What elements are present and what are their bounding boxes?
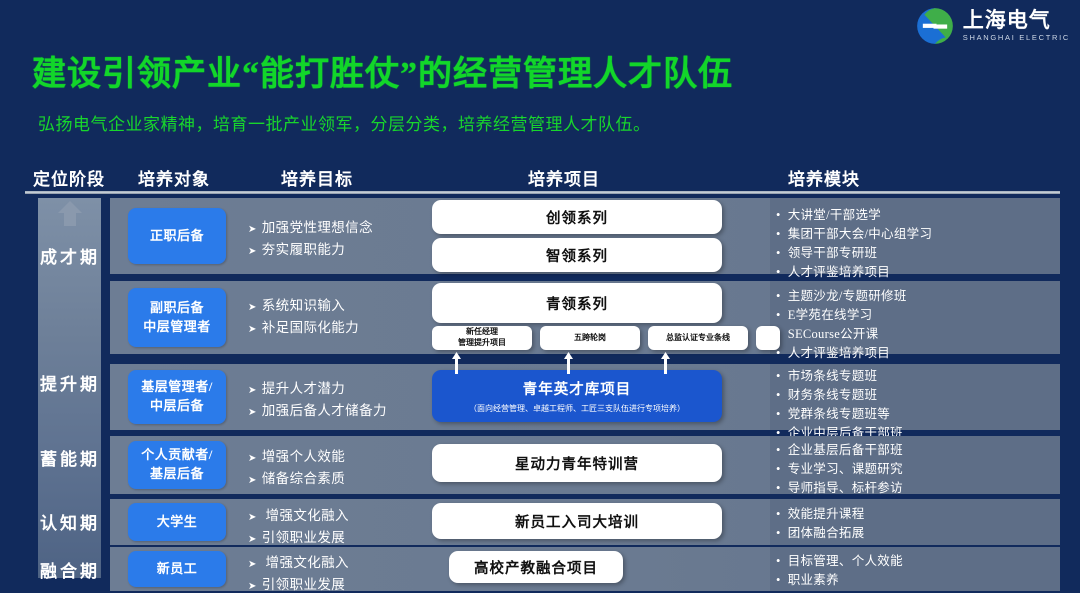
program-card-label: 总监认证专业条线 [666,333,730,344]
module-item: 财务条线专题班 [776,386,1046,405]
pipeline-row: 副职后备 中层管理者系统知识输入补足国际化能力青领系列新任经理 管理提升项目五跨… [110,281,1060,354]
program-card-label: 青年英才库项目 [523,378,632,399]
module-item: 领导干部专研班 [776,244,1046,263]
connector-up-arrow-icon [452,352,461,374]
audience-tag[interactable]: 个人贡献者/ 基层后备 [128,441,226,489]
program-card-label: 智领系列 [546,245,608,266]
stage-label-4: 认知期 [24,509,116,534]
pipeline-row: 正职后备加强党性理想信念夯实履职能力创领系列智领系列大讲堂/干部选学集团干部大会… [110,198,1060,274]
module-item: 党群条线专题班等 [776,405,1046,424]
module-item: 专业学习、课题研究 [776,460,1046,479]
program-card-label: 青领系列 [546,293,608,314]
up-arrow-icon [57,200,83,226]
goal-item: 加强后备人才储备力 [248,400,387,422]
column-header-4: 培养项目 [528,165,600,190]
audience-tag[interactable]: 大学生 [128,503,226,541]
module-list: 企业基层后备干部班专业学习、课题研究导师指导、标杆参访 [776,441,1046,498]
module-item: 市场条线专题班 [776,367,1046,386]
program-card-label: 新任经理 管理提升项目 [458,327,506,349]
audience-tag[interactable]: 基层管理者/ 中层后备 [128,370,226,424]
connector-up-arrow-icon [564,352,573,374]
module-item: 人才评鉴培养项目 [776,263,1046,282]
module-item: 集团干部大会/中心组学习 [776,225,1046,244]
module-list: 市场条线专题班财务条线专题班党群条线专题班等企业中层后备干部班 [776,367,1046,443]
module-list: 效能提升课程团体融合拓展 [776,505,1046,543]
program-card-label: 新员工入司大培训 [515,511,639,532]
program-card-label: 高校产教融合项目 [474,557,598,578]
program-card[interactable]: 星动力青年特训营 [432,444,722,482]
program-card[interactable]: 创领系列 [432,200,722,234]
audience-tag[interactable]: 新员工 [128,551,226,587]
program-card[interactable]: 新员工入司大培训 [432,503,722,539]
stage-label-1: 成才期 [24,243,116,268]
goal-list: 提升人才潜力加强后备人才储备力 [248,378,387,422]
program-card[interactable]: 智领系列 [432,238,722,272]
column-header-1: 定位阶段 [33,165,105,190]
goal-list: 增强个人效能储备综合素质 [248,446,345,490]
column-header-3: 培养目标 [281,165,353,190]
connector-up-arrow-icon [661,352,670,374]
goal-list: 增强文化融入引领职业发展 [248,552,349,593]
program-card[interactable]: 新任经理 管理提升项目 [432,326,532,350]
program-card[interactable]: 青年英才库项目（面向经营管理、卓越工程师、工匠三支队伍进行专项培养） [432,370,722,422]
program-card-label: 星动力青年特训营 [515,453,639,474]
goal-list: 增强文化融入引领职业发展 [248,505,349,549]
goal-item: 夯实履职能力 [248,239,373,261]
module-item: 人才评鉴培养项目 [776,344,1046,363]
goal-item: 增强文化融入 [248,552,349,574]
page-title: 建设引领产业“能打胜仗”的经营管理人才队伍 [32,46,733,95]
goal-item: 系统知识输入 [248,295,359,317]
module-item: SECourse公开课 [776,325,1046,344]
module-list: 大讲堂/干部选学集团干部大会/中心组学习领导干部专研班人才评鉴培养项目 [776,206,1046,282]
module-item: 职业素养 [776,571,1046,590]
module-item: 效能提升课程 [776,505,1046,524]
goal-item: 储备综合素质 [248,468,345,490]
goal-list: 系统知识输入补足国际化能力 [248,295,359,339]
logo-text-cn: 上海电气 [963,10,1070,31]
program-card[interactable]: 总监认证专业条线 [648,326,748,350]
module-list: 目标管理、个人效能职业素养 [776,552,1046,590]
goal-item: 加强党性理想信念 [248,217,373,239]
goal-item: 提升人才潜力 [248,378,387,400]
module-item: 团体融合拓展 [776,524,1046,543]
stage-label-5: 融合期 [24,557,116,582]
page-subtitle: 弘扬电气企业家精神，培育一批产业领军，分层分类，培养经营管理人才队伍。 [38,110,651,135]
module-item: 主题沙龙/专题研修班 [776,287,1046,306]
module-item: E学苑在线学习 [776,306,1046,325]
program-card-label: 五跨轮岗 [574,333,606,344]
column-headers: 定位阶段培养对象培养目标培养项目培养模块 [0,165,1080,191]
pipeline-row: 个人贡献者/ 基层后备增强个人效能储备综合素质星动力青年特训营企业基层后备干部班… [110,436,1060,494]
module-item: 企业基层后备干部班 [776,441,1046,460]
column-header-5: 培养模块 [788,165,860,190]
module-item: 大讲堂/干部选学 [776,206,1046,225]
logo-text-en: SHANGHAI ELECTRIC [963,34,1070,42]
goal-item: 增强文化融入 [248,505,349,527]
module-item: 导师指导、标杆参访 [776,479,1046,498]
goal-item: 引领职业发展 [248,574,349,593]
stage-label-3: 蓄能期 [24,445,116,470]
module-item: 目标管理、个人效能 [776,552,1046,571]
pipeline-row: 大学生 增强文化融入引领职业发展新员工入司大培训效能提升课程团体融合拓展 [110,499,1060,545]
stage-label-2: 提升期 [24,370,116,395]
goal-list: 加强党性理想信念夯实履职能力 [248,217,373,261]
program-card[interactable]: 五跨轮岗 [540,326,640,350]
program-card-subtitle: （面向经营管理、卓越工程师、工匠三支队伍进行专项培养） [469,404,685,414]
shanghai-electric-logo-icon [916,7,954,45]
audience-tag[interactable]: 副职后备 中层管理者 [128,288,226,347]
goal-item: 补足国际化能力 [248,317,359,339]
audience-tag[interactable]: 正职后备 [128,208,226,264]
program-card[interactable]: 高校产教融合项目 [449,551,623,583]
header-divider [25,191,1060,194]
brand-logo: 上海电气 SHANGHAI ELECTRIC [916,6,1070,46]
pipeline-row: 新员工 增强文化融入引领职业发展高校产教融合项目目标管理、个人效能职业素养 [110,547,1060,591]
program-card-label: 创领系列 [546,207,608,228]
pipeline-row: 基层管理者/ 中层后备提升人才潜力加强后备人才储备力青年英才库项目（面向经营管理… [110,364,1060,430]
goal-item: 引领职业发展 [248,527,349,549]
program-card[interactable]: 青领系列 [432,283,722,323]
column-header-2: 培养对象 [138,165,210,190]
goal-item: 增强个人效能 [248,446,345,468]
module-list: 主题沙龙/专题研修班E学苑在线学习SECourse公开课人才评鉴培养项目 [776,287,1046,363]
